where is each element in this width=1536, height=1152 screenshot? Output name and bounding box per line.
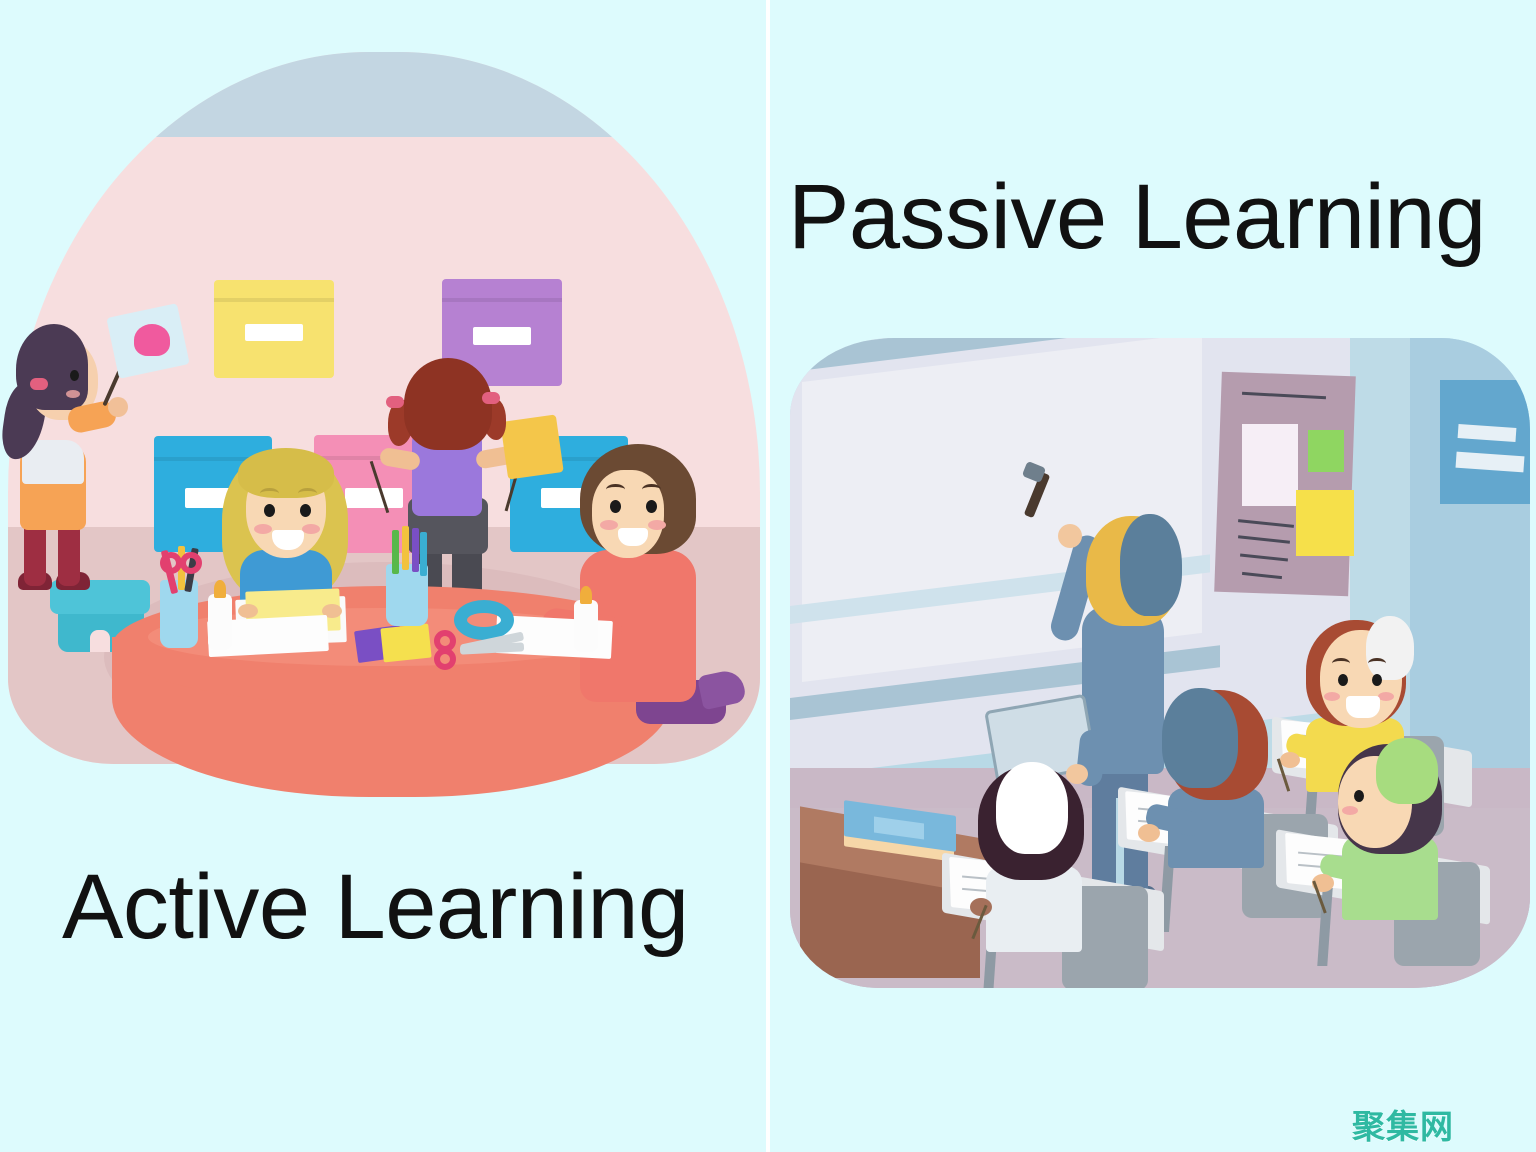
student-hand [1138,824,1160,842]
cheek-left [254,524,272,534]
glue-bottle-tip-right [580,586,592,604]
cheek [1342,806,1358,815]
smile [1346,696,1380,718]
teacher-cap [1120,514,1182,616]
scissors-ring-d [434,648,456,670]
hand [108,397,128,417]
wall-poster-blue [1440,380,1530,504]
brow-right [1368,658,1386,669]
cheek-left [1324,692,1340,701]
teacher-hand-lower [1066,764,1088,784]
student-cap [996,762,1068,854]
craft-paper-yellow [380,624,431,663]
brow-left [1332,658,1350,669]
hair [404,358,492,450]
brow-right [642,484,661,495]
bulletin-note-white [1242,424,1298,506]
box-label [473,327,531,345]
glue-bottle-left [208,594,232,650]
ceiling-strip [8,52,760,137]
box-lid [442,298,562,302]
eye-right [1372,674,1382,686]
eye-left [264,504,275,517]
storage-box-yellow [214,280,334,378]
eye-right [300,504,311,517]
box-label [345,488,403,508]
cheek-right [648,520,666,530]
illustration-active-learning [8,52,760,812]
watermark-logo: 聚集网 [1352,1100,1454,1148]
eye [1354,790,1364,802]
panel-passive-learning: Passive Learning [770,0,1536,1152]
bulletin-note-yellow [1296,490,1354,556]
hair-bangs [238,448,334,498]
student-cap [1376,738,1438,804]
smile [618,528,648,546]
pencil-yellow-2 [402,526,409,570]
caption-active-learning: Active Learning [62,855,689,960]
pencil-green [392,530,399,574]
pencil-blue [420,532,427,576]
bulletin-note-green [1308,430,1344,472]
classroom-background [790,338,1530,988]
comparison-canvas: Active Learning Passive Learning [0,0,1536,1152]
eye-right [646,500,657,513]
student-cap [1162,688,1238,788]
step-stool-cutout [90,630,110,652]
box-lid [214,298,334,302]
brow-left [606,484,625,495]
scissors-ring-a [160,552,182,574]
box-label [245,324,303,341]
scissors-ring-b [180,552,202,574]
brow-right [298,488,317,499]
caption-passive-learning: Passive Learning [788,165,1486,270]
hair-bow-right [482,392,500,404]
hair-bow-left [386,396,404,408]
cheek-right [302,524,320,534]
brow-left [260,488,279,499]
glue-bottle-right [574,600,598,652]
eye [70,370,79,381]
pencil-purple [412,528,419,572]
teacher-hand-upper [1058,524,1082,548]
craft-card-yellow [500,414,564,479]
hair-tie [30,378,48,390]
panel-active-learning: Active Learning [0,0,767,1152]
cheek-right [1378,692,1394,701]
student-hand [1280,752,1300,768]
pencil-cup-left [160,580,198,648]
glue-bottle-tip-left [214,580,226,598]
student-cap [1366,616,1414,680]
eye-left [610,500,621,513]
cheek-left [600,520,618,530]
eye-left [1338,674,1348,686]
hand-left [238,604,258,618]
illustration-passive-learning [790,338,1530,988]
craft-shape-pink [134,324,170,356]
cheek [66,390,80,398]
